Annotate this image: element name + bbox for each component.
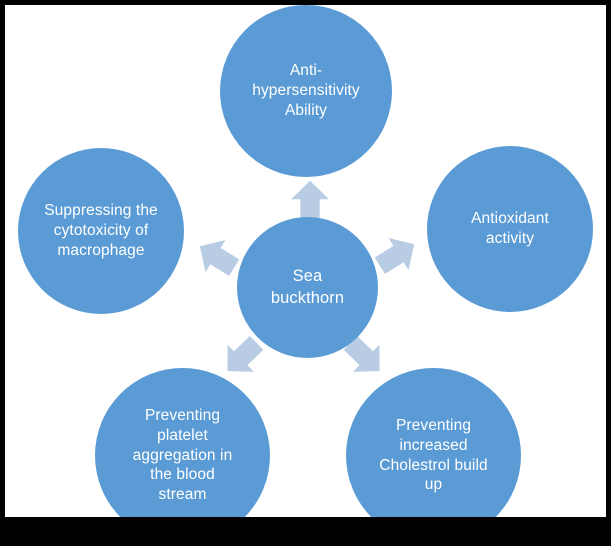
node-label: Preventing increased Cholestrol build up <box>371 416 495 495</box>
node-label: Preventing platelet aggregation in the b… <box>125 406 241 505</box>
node-preventing-platelet-aggregation: Preventing platelet aggregation in the b… <box>95 368 270 517</box>
center-node-label: Sea buckthorn <box>263 266 352 308</box>
node-label: Suppressing the cytotoxicity of macropha… <box>36 201 166 260</box>
diagram-canvas: Anti- hypersensitivity Ability Antioxida… <box>5 5 606 517</box>
node-label: Anti- hypersensitivity Ability <box>244 61 368 120</box>
node-suppressing-cytotoxicity-of-macrophage: Suppressing the cytotoxicity of macropha… <box>18 148 184 314</box>
diagram-frame: Anti- hypersensitivity Ability Antioxida… <box>0 0 611 546</box>
node-label: Antioxidant activity <box>463 209 557 249</box>
node-anti-hypersensitivity-ability: Anti- hypersensitivity Ability <box>220 5 392 177</box>
node-antioxidant-activity: Antioxidant activity <box>427 146 593 312</box>
node-preventing-increased-cholestrol-build-up: Preventing increased Cholestrol build up <box>346 368 521 517</box>
node-sea-buckthorn-center: Sea buckthorn <box>237 217 378 358</box>
